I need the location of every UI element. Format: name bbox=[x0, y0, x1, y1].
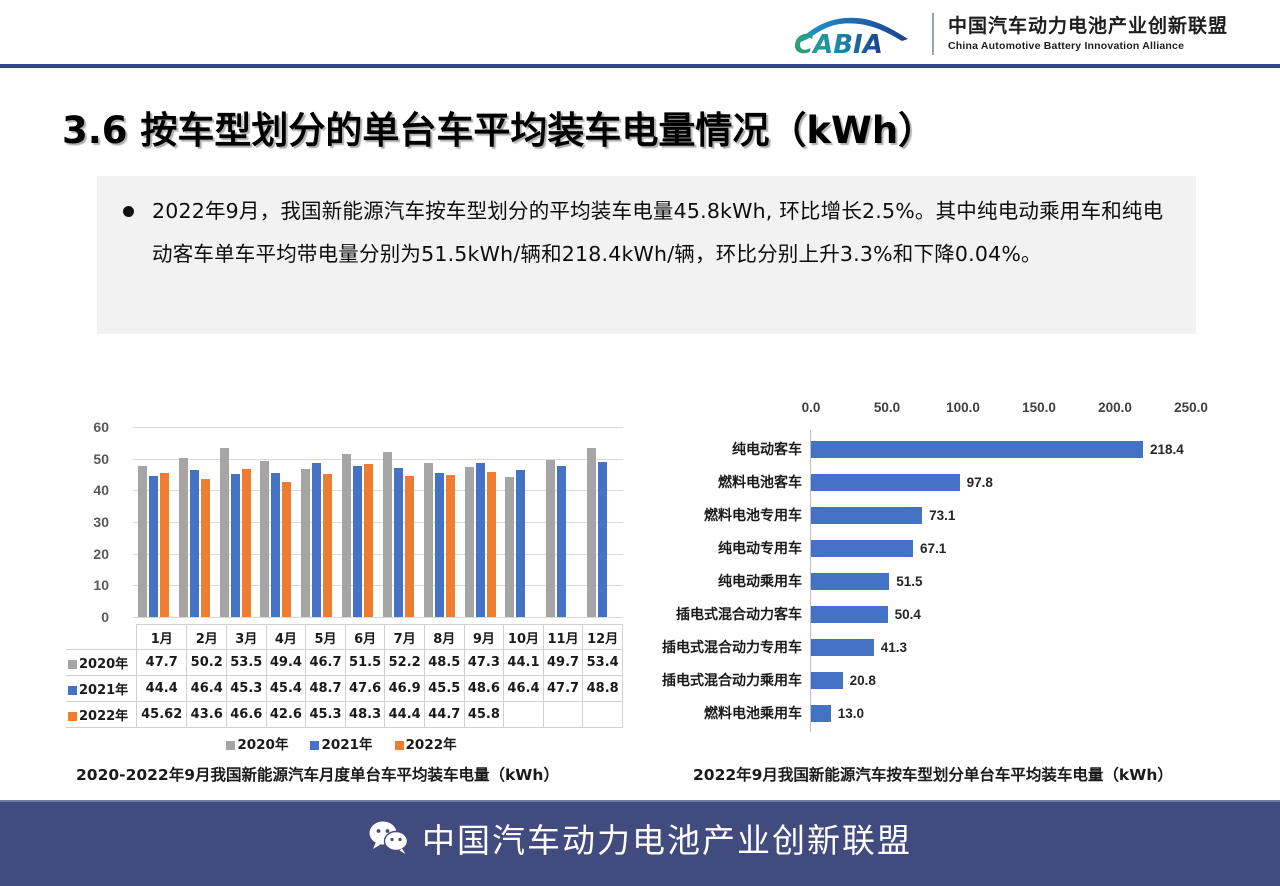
table-row: 2020年47.750.253.549.446.751.552.248.547.… bbox=[66, 650, 623, 676]
x-axis-tick: 0.0 bbox=[802, 400, 821, 415]
bar-row: 插电式混合动力乘用车20.8 bbox=[672, 664, 1272, 697]
svg-text:CABIA: CABIA bbox=[794, 30, 883, 59]
bar-group bbox=[260, 427, 291, 617]
y-axis-tick: 50 bbox=[69, 451, 109, 467]
table-row-header: 2021年 bbox=[66, 676, 137, 702]
table-column-header: 6月 bbox=[345, 625, 385, 650]
x-axis-tick: 200.0 bbox=[1098, 400, 1132, 415]
table-cell: 46.6 bbox=[227, 702, 267, 728]
bar bbox=[342, 454, 351, 617]
table-cell: 46.4 bbox=[504, 676, 544, 702]
x-axis-tick: 250.0 bbox=[1174, 400, 1208, 415]
bar bbox=[383, 452, 392, 617]
bar bbox=[811, 474, 960, 491]
bar bbox=[557, 466, 566, 617]
legend-swatch-icon bbox=[395, 741, 404, 750]
bar-row: 纯电动客车218.4 bbox=[672, 433, 1272, 466]
monthly-chart-plot: 0102030405060 bbox=[133, 427, 623, 617]
bar-value-label: 50.4 bbox=[895, 598, 921, 631]
series-swatch-icon bbox=[68, 712, 77, 721]
table-cell: 44.7 bbox=[424, 702, 464, 728]
bar-row: 纯电动专用车67.1 bbox=[672, 532, 1272, 565]
table-cell: 50.2 bbox=[187, 650, 227, 676]
legend-swatch-icon bbox=[226, 741, 235, 750]
table-cell: 48.3 bbox=[345, 702, 385, 728]
table-column-header: 9月 bbox=[464, 625, 504, 650]
bar-value-label: 13.0 bbox=[838, 697, 864, 730]
bar bbox=[282, 482, 291, 617]
bar bbox=[405, 476, 414, 617]
y-axis-tick: 60 bbox=[69, 419, 109, 435]
bar bbox=[435, 473, 444, 617]
table-cell bbox=[543, 702, 583, 728]
category-label: 纯电动乘用车 bbox=[582, 565, 802, 598]
bar bbox=[546, 460, 555, 617]
table-cell: 45.5 bbox=[424, 676, 464, 702]
series-swatch-icon bbox=[68, 686, 77, 695]
bar bbox=[323, 474, 332, 617]
bar-row: 燃料电池乘用车13.0 bbox=[672, 697, 1272, 730]
bar bbox=[465, 467, 474, 617]
bar bbox=[242, 469, 251, 617]
table-column-header: 5月 bbox=[306, 625, 346, 650]
monthly-data-table: 1月2月3月4月5月6月7月8月9月10月11月12月2020年47.750.2… bbox=[66, 624, 623, 728]
bar bbox=[424, 463, 433, 617]
bar bbox=[231, 474, 240, 617]
brand-name-en: China Automotive Battery Innovation Alli… bbox=[948, 41, 1228, 52]
footer-top-border bbox=[0, 800, 1280, 802]
bar bbox=[811, 672, 843, 689]
header-divider bbox=[0, 64, 1280, 68]
brand-text: 中国汽车动力电池产业创新联盟 China Automotive Battery … bbox=[948, 17, 1228, 52]
bar bbox=[516, 470, 525, 617]
bar-group bbox=[383, 427, 414, 617]
table-column-header: 7月 bbox=[385, 625, 425, 650]
table-cell: 44.4 bbox=[137, 676, 187, 702]
bar-row: 插电式混合动力专用车41.3 bbox=[672, 631, 1272, 664]
table-cell: 47.3 bbox=[464, 650, 504, 676]
table-row: 2021年44.446.445.345.448.747.646.945.548.… bbox=[66, 676, 623, 702]
table-cell: 53.5 bbox=[227, 650, 267, 676]
y-axis-tick: 20 bbox=[69, 546, 109, 562]
table-column-header: 4月 bbox=[266, 625, 306, 650]
bar-group bbox=[505, 427, 536, 617]
bar-value-label: 20.8 bbox=[850, 664, 876, 697]
category-label: 插电式混合动力客车 bbox=[582, 598, 802, 631]
table-cell: 49.4 bbox=[266, 650, 306, 676]
bar bbox=[149, 476, 158, 617]
bar bbox=[138, 466, 147, 617]
footer-content: 中国汽车动力电池产业创新联盟 bbox=[0, 814, 1280, 862]
bar bbox=[487, 472, 496, 617]
bar-row: 纯电动乘用车51.5 bbox=[672, 565, 1272, 598]
bar-value-label: 218.4 bbox=[1150, 433, 1184, 466]
brand-logo-block: CABIA 中国汽车动力电池产业创新联盟 China Automotive Ba… bbox=[790, 8, 1228, 60]
bar bbox=[201, 479, 210, 617]
legend-item[interactable]: 2022年 bbox=[395, 737, 457, 753]
monthly-chart-caption: 2020-2022年9月我国新能源汽车月度单台车平均装车电量（kWh） bbox=[76, 763, 559, 785]
bar bbox=[811, 441, 1143, 458]
table-header-row: 1月2月3月4月5月6月7月8月9月10月11月12月 bbox=[66, 625, 623, 650]
table-cell: 47.6 bbox=[345, 676, 385, 702]
bar bbox=[811, 705, 831, 722]
bar bbox=[179, 458, 188, 617]
table-cell: 44.1 bbox=[504, 650, 544, 676]
table-cell: 46.4 bbox=[187, 676, 227, 702]
gridline bbox=[133, 617, 623, 618]
table-cell: 42.6 bbox=[266, 702, 306, 728]
category-label: 纯电动客车 bbox=[582, 433, 802, 466]
bar bbox=[811, 540, 913, 557]
category-label: 燃料电池乘用车 bbox=[582, 697, 802, 730]
logo-divider bbox=[932, 13, 934, 55]
bar-group bbox=[424, 427, 455, 617]
bar-group bbox=[138, 427, 169, 617]
bar bbox=[394, 468, 403, 617]
table-cell: 47.7 bbox=[137, 650, 187, 676]
table-cell: 45.8 bbox=[464, 702, 504, 728]
monthly-average-chart: 0102030405060 1月2月3月4月5月6月7月8月9月10月11月12… bbox=[60, 415, 660, 735]
bar-row: 燃料电池专用车73.1 bbox=[672, 499, 1272, 532]
x-axis-tick: 150.0 bbox=[1022, 400, 1056, 415]
table-cell: 45.62 bbox=[137, 702, 187, 728]
table-cell: 45.4 bbox=[266, 676, 306, 702]
table-cell: 46.9 bbox=[385, 676, 425, 702]
table-cell: 49.7 bbox=[543, 650, 583, 676]
y-axis-tick: 30 bbox=[69, 514, 109, 530]
table-cell: 45.3 bbox=[306, 702, 346, 728]
category-label: 燃料电池专用车 bbox=[582, 499, 802, 532]
summary-panel: 2022年9月，我国新能源汽车按车型划分的平均装车电量45.8kWh, 环比增长… bbox=[97, 176, 1196, 334]
wechat-icon bbox=[368, 820, 410, 856]
vehicle-type-chart-xaxis: 0.050.0100.0150.0200.0250.0 bbox=[672, 400, 1272, 422]
bar-row: 插电式混合动力客车50.4 bbox=[672, 598, 1272, 631]
bar bbox=[811, 507, 922, 524]
table-row-header: 2022年 bbox=[66, 702, 137, 728]
table-column-header: 8月 bbox=[424, 625, 464, 650]
bar bbox=[260, 461, 269, 617]
bar bbox=[312, 463, 321, 617]
bar-group bbox=[546, 427, 577, 617]
bar-group bbox=[179, 427, 210, 617]
bar bbox=[301, 469, 310, 617]
y-axis-tick: 0 bbox=[69, 609, 109, 625]
table-cell: 45.3 bbox=[227, 676, 267, 702]
bar-value-label: 41.3 bbox=[881, 631, 907, 664]
bar-group bbox=[342, 427, 373, 617]
category-label: 插电式混合动力专用车 bbox=[582, 631, 802, 664]
bar-value-label: 67.1 bbox=[920, 532, 946, 565]
footer-text: 中国汽车动力电池产业创新联盟 bbox=[422, 814, 912, 862]
table-cell: 44.4 bbox=[385, 702, 425, 728]
bar-group bbox=[465, 427, 496, 617]
y-axis-tick: 40 bbox=[69, 482, 109, 498]
vehicle-type-chart-caption: 2022年9月我国新能源汽车按车型划分单台车平均装车电量（kWh） bbox=[693, 763, 1173, 785]
bar bbox=[271, 473, 280, 617]
table-cell: 47.7 bbox=[543, 676, 583, 702]
bar-group bbox=[301, 427, 332, 617]
bar-row: 燃料电池客车97.8 bbox=[672, 466, 1272, 499]
monthly-chart-legend: 2020年2021年2022年 bbox=[60, 733, 623, 753]
category-label: 燃料电池客车 bbox=[582, 466, 802, 499]
table-cell bbox=[504, 702, 544, 728]
table-cell: 52.2 bbox=[385, 650, 425, 676]
bar bbox=[160, 473, 169, 617]
category-label: 纯电动专用车 bbox=[582, 532, 802, 565]
table-cell: 51.5 bbox=[345, 650, 385, 676]
table-cell: 48.5 bbox=[424, 650, 464, 676]
table-cell: 43.6 bbox=[187, 702, 227, 728]
table-corner bbox=[66, 625, 137, 650]
table-column-header: 3月 bbox=[227, 625, 267, 650]
table-column-header: 1月 bbox=[137, 625, 187, 650]
bar bbox=[190, 470, 199, 617]
table-column-header: 10月 bbox=[504, 625, 544, 650]
table-cell: 46.7 bbox=[306, 650, 346, 676]
table-column-header: 11月 bbox=[543, 625, 583, 650]
legend-item[interactable]: 2020年 bbox=[226, 737, 288, 753]
bar-value-label: 51.5 bbox=[896, 565, 922, 598]
bar bbox=[476, 463, 485, 617]
x-axis-tick: 50.0 bbox=[874, 400, 900, 415]
brand-name-cn: 中国汽车动力电池产业创新联盟 bbox=[948, 17, 1228, 36]
bar bbox=[811, 639, 874, 656]
x-axis-tick: 100.0 bbox=[946, 400, 980, 415]
bar bbox=[353, 466, 362, 617]
bar bbox=[220, 448, 229, 617]
bar bbox=[364, 464, 373, 617]
bullet-dot-icon bbox=[123, 206, 134, 217]
bar-value-label: 73.1 bbox=[929, 499, 955, 532]
summary-text: 2022年9月，我国新能源汽车按车型划分的平均装车电量45.8kWh, 环比增长… bbox=[152, 190, 1182, 276]
table-column-header: 2月 bbox=[187, 625, 227, 650]
page-title: 3.6 按车型划分的单台车平均装车电量情况（kWh） bbox=[62, 100, 935, 154]
bar bbox=[811, 573, 889, 590]
table-cell: 48.7 bbox=[306, 676, 346, 702]
cabia-car-logo-icon: CABIA bbox=[790, 9, 918, 59]
vehicle-type-chart: 0.050.0100.0150.0200.0250.0 纯电动客车218.4燃料… bbox=[672, 400, 1272, 740]
bar bbox=[811, 606, 888, 623]
legend-item[interactable]: 2021年 bbox=[310, 737, 372, 753]
table-row: 2022年45.6243.646.642.645.348.344.444.745… bbox=[66, 702, 623, 728]
table-cell: 48.6 bbox=[464, 676, 504, 702]
y-axis-tick: 10 bbox=[69, 577, 109, 593]
legend-swatch-icon bbox=[310, 741, 319, 750]
category-label: 插电式混合动力乘用车 bbox=[582, 664, 802, 697]
bar-group bbox=[220, 427, 251, 617]
bar bbox=[505, 477, 514, 617]
page-header: CABIA 中国汽车动力电池产业创新联盟 China Automotive Ba… bbox=[0, 0, 1280, 67]
series-swatch-icon bbox=[68, 660, 77, 669]
table-row-header: 2020年 bbox=[66, 650, 137, 676]
bar-value-label: 97.8 bbox=[967, 466, 993, 499]
bar bbox=[446, 475, 455, 617]
page-footer: 中国汽车动力电池产业创新联盟 bbox=[0, 800, 1280, 886]
